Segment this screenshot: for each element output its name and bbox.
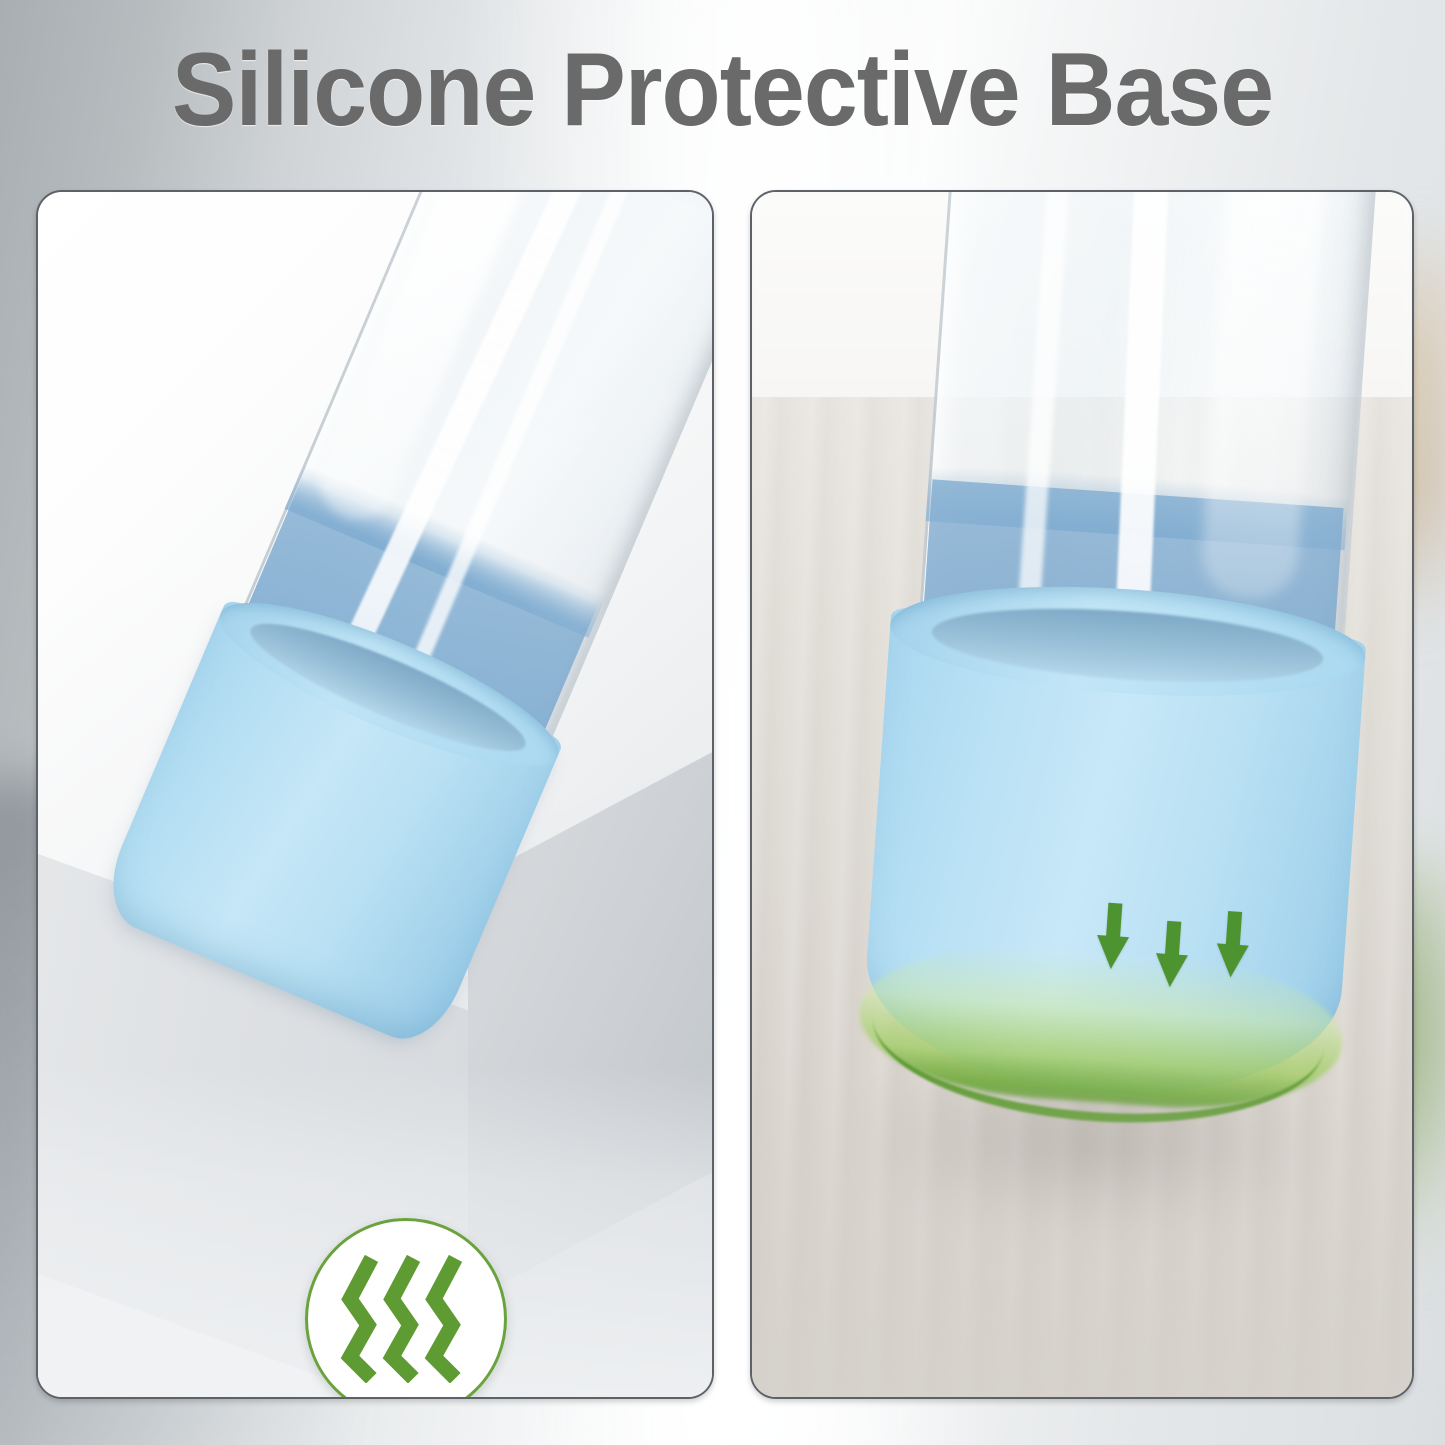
impact-arrow-down-icon xyxy=(1095,902,1130,970)
infographic-stage: Silicone Protective Base xyxy=(0,0,1445,1445)
impact-arrow-down-icon xyxy=(1215,910,1250,978)
panel-anti-impact: Anti-impact xyxy=(750,190,1414,1399)
impact-arrow-down-icon xyxy=(1154,920,1189,988)
page-title: Silicone Protective Base xyxy=(51,36,1395,145)
impact-arrows-group xyxy=(1093,902,1249,1002)
panel-anti-slip: Anti-slip xyxy=(36,190,714,1399)
bottle-upright xyxy=(831,190,1414,1170)
